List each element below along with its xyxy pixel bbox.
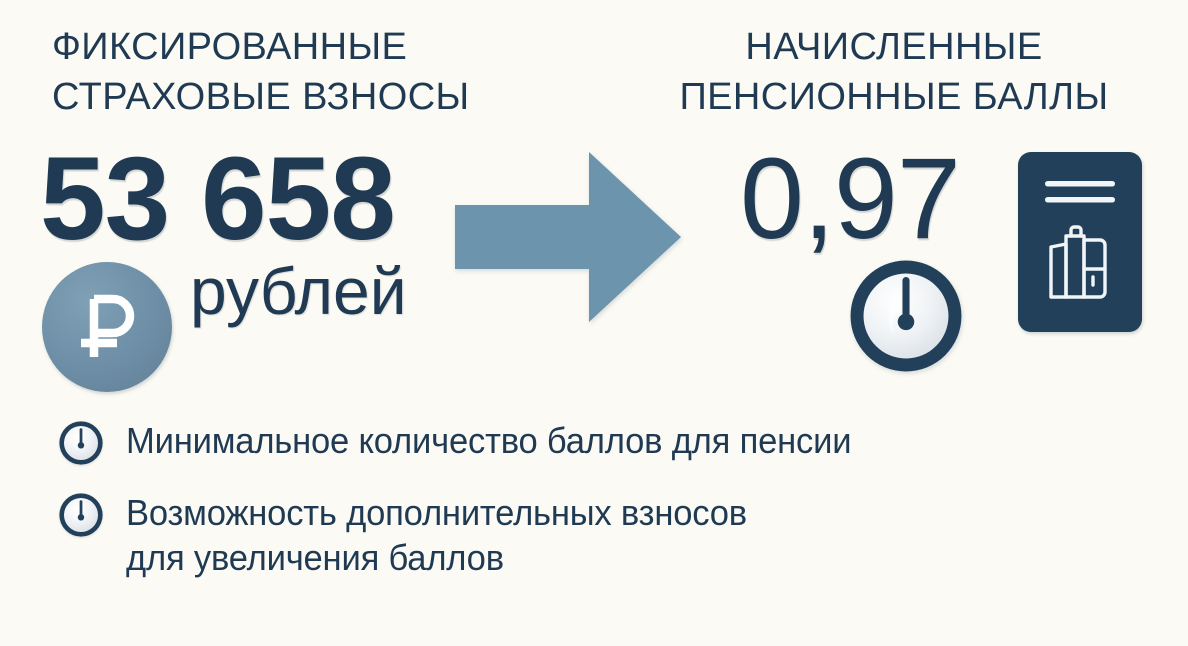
clock-icon (847, 257, 965, 375)
list-item: Возможность дополнительных взносов для у… (58, 490, 1148, 580)
ruble-icon (42, 262, 172, 392)
arrow-right-icon (455, 152, 681, 322)
list-item: Минимальное количество баллов для пенсии (58, 418, 1148, 466)
currency-unit-label: рублей (190, 258, 407, 324)
right-section-heading: НАЧИСЛЕННЫЕ ПЕНСИОННЫЕ БАЛЛЫ (614, 22, 1174, 122)
infographic-canvas: ФИКСИРОВАННЫЕ СТРАХОВЫЕ ВЗНОСЫ НАЧИСЛЕНН… (0, 0, 1188, 646)
work-record-book-icon (1018, 152, 1142, 332)
bullet-list: Минимальное количество баллов для пенсии (58, 418, 1148, 604)
left-section-heading: ФИКСИРОВАННЫЕ СТРАХОВЫЕ ВЗНОСЫ (52, 22, 470, 122)
pension-points-value: 0,97 (740, 142, 960, 257)
list-item-label: Возможность дополнительных взносов для у… (126, 490, 747, 580)
fixed-contribution-amount: 53 658 (40, 140, 395, 258)
clock-icon (58, 492, 104, 538)
list-item-label: Минимальное количество баллов для пенсии (126, 418, 851, 463)
clock-icon (58, 420, 104, 466)
